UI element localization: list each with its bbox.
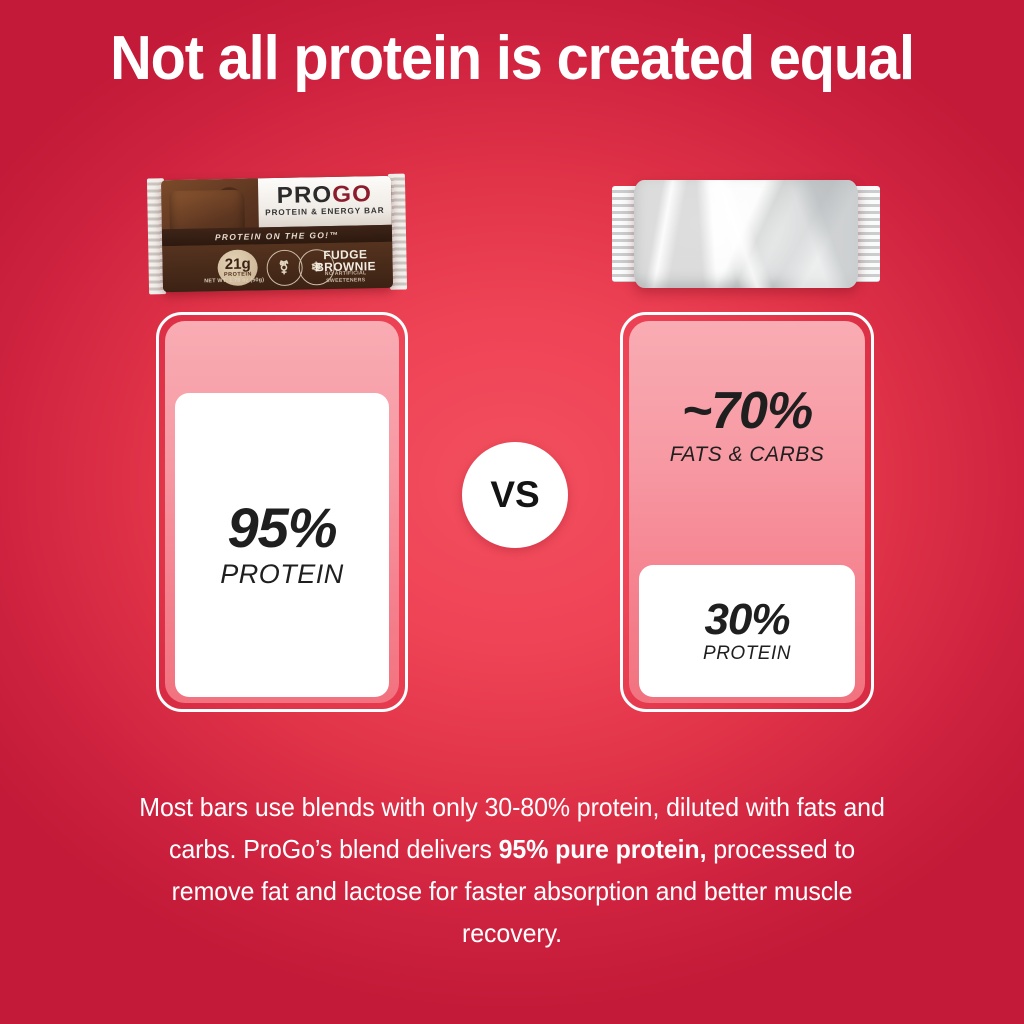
- no-artificial-sweeteners-text: NO ARTIFICIAL SWEETENERS: [308, 270, 384, 284]
- tagline-text: PROTEIN ON THE GO!™: [215, 229, 339, 241]
- gluten-free-seal-icon: ⚧: [266, 249, 303, 286]
- protein-grams: 21g: [225, 257, 251, 272]
- card-right-inner: ~70% FATS & CARBS 30% PROTEIN: [629, 321, 865, 703]
- progo-logo: PROGO: [259, 181, 390, 206]
- page-title: Not all protein is created equal: [36, 26, 988, 91]
- wheat-icon: ⚧: [278, 261, 289, 274]
- protein-fill-bar-right: 30% PROTEIN: [639, 565, 855, 697]
- foil-wrapper-body: [634, 180, 858, 288]
- left-card-label: PROTEIN: [220, 560, 344, 590]
- description-paragraph: Most bars use blends with only 30-80% pr…: [128, 786, 896, 954]
- vs-badge: VS: [462, 442, 568, 548]
- protein-fill-bar-left: 95% PROTEIN: [175, 393, 389, 697]
- logo-pro-text: PRO: [277, 181, 333, 208]
- progo-wrapper-body: PROGO PROTEIN & ENERGY BAR PROTEIN ON TH…: [161, 176, 393, 292]
- card-left-inner: 95% PROTEIN: [165, 321, 399, 703]
- right-card-value: 30%: [704, 598, 789, 642]
- fats-carbs-stat: ~70% FATS & CARBS: [629, 385, 865, 466]
- comparison-card-generic: ~70% FATS & CARBS 30% PROTEIN: [620, 312, 874, 712]
- vs-label: VS: [490, 474, 539, 516]
- logo-go-text: GO: [332, 180, 372, 207]
- blurb-highlight: 95% pure protein,: [499, 834, 707, 864]
- right-card-top-value: ~70%: [629, 385, 865, 437]
- left-card-value: 95%: [227, 500, 336, 556]
- infographic-canvas: Not all protein is created equal PROGO P…: [0, 0, 1024, 1024]
- right-card-top-label: FATS & CARBS: [629, 443, 865, 466]
- net-weight-text: NET WT: 1.76 oz (50g): [204, 277, 264, 284]
- generic-product-bar-image: [612, 172, 880, 296]
- progo-product-bar-image: PROGO PROTEIN & ENERGY BAR PROTEIN ON TH…: [147, 170, 407, 299]
- right-card-label: PROTEIN: [703, 644, 791, 665]
- comparison-card-progo: 95% PROTEIN: [156, 312, 408, 712]
